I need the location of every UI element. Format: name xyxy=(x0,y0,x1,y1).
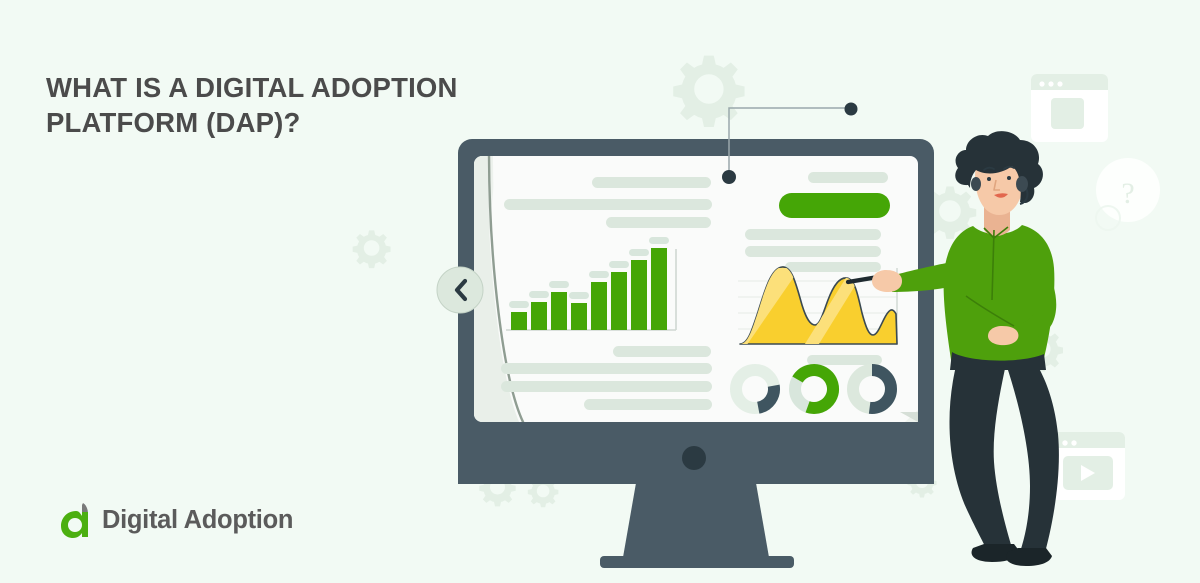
carousel-prev-button[interactable] xyxy=(437,267,483,313)
earring xyxy=(1016,176,1028,192)
eye-left xyxy=(987,177,991,181)
brand-name: Digital Adoption xyxy=(102,506,293,535)
cta-button[interactable] xyxy=(779,193,890,218)
callout-endpoint-dot xyxy=(845,103,858,116)
illustration-canvas: ? xyxy=(0,0,1200,583)
page-title-line-2: PLATFORM (DAP)? xyxy=(46,105,566,140)
leg-back xyxy=(949,362,1012,552)
earring-back xyxy=(971,177,981,191)
leg-front xyxy=(1006,360,1059,556)
brand-logo[interactable]: Digital Adoption xyxy=(57,497,293,543)
eye-right xyxy=(1007,176,1011,180)
hand-on-hip xyxy=(988,326,1018,345)
hand-front xyxy=(872,270,902,292)
callout-target-dot xyxy=(722,170,736,184)
page-title-line-1: WHAT IS A DIGITAL ADOPTION xyxy=(46,70,566,105)
logo-a-glyph xyxy=(61,511,88,538)
monitor-power-button[interactable] xyxy=(682,446,706,470)
logo-mark-icon xyxy=(57,500,97,540)
page-title: WHAT IS A DIGITAL ADOPTION PLATFORM (DAP… xyxy=(46,70,566,140)
shoe-front xyxy=(1006,548,1052,566)
monitor-stand xyxy=(600,483,794,568)
